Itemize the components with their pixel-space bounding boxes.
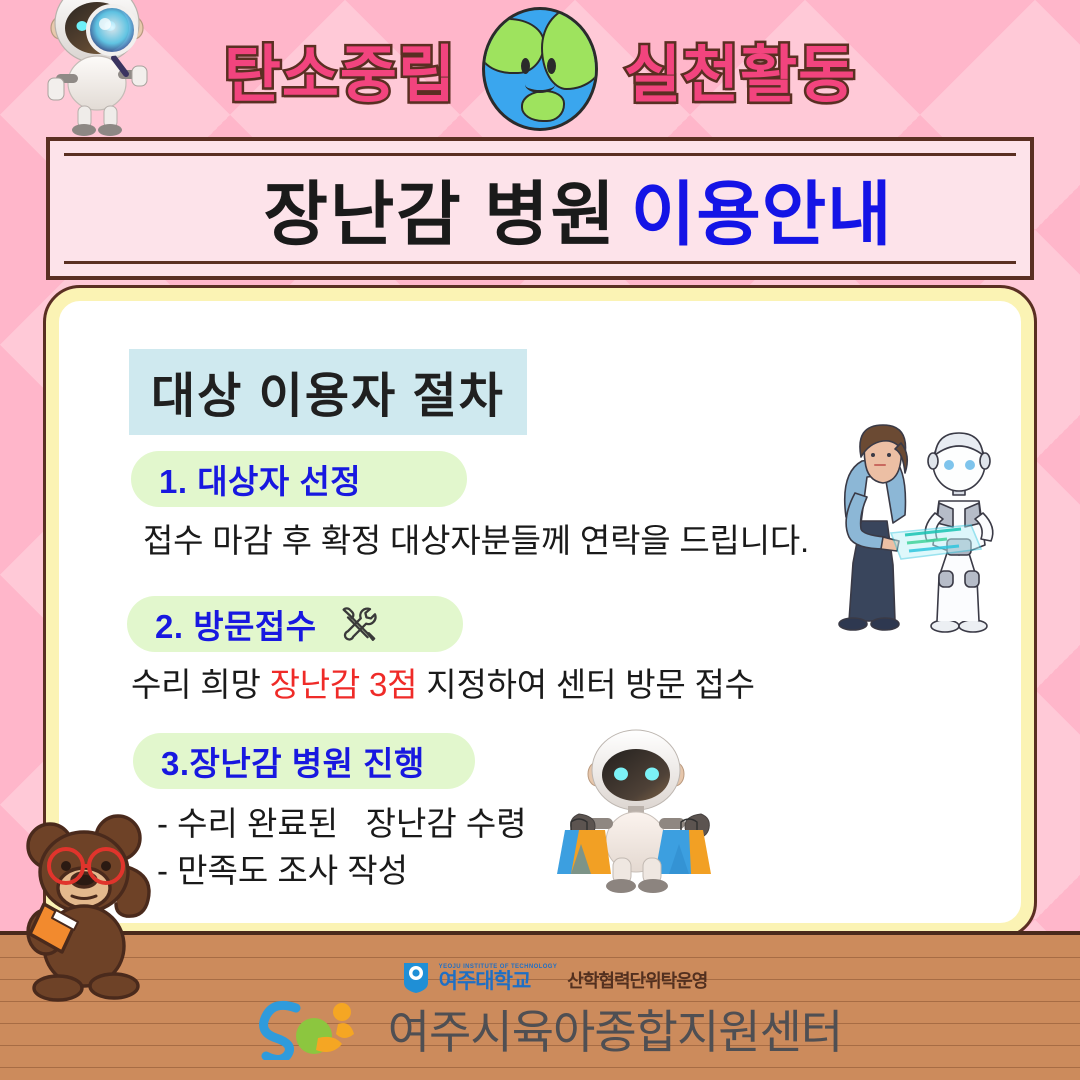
step-1-description: 접수 마감 후 확정 대상자분들께 연락을 드립니다.: [143, 514, 809, 562]
step-3-bullet-1: - 수리 완료된 장난감 수령: [157, 801, 527, 848]
floor-plank-line: [0, 1067, 1080, 1068]
step-2-desc-highlight: 장난감 3점: [270, 666, 418, 703]
step-3-label: 3.장난감 병원 진행: [161, 737, 425, 785]
page-title: 장난감 병원이용안내: [50, 158, 1030, 259]
step-2-description: 수리 희망 장난감 3점 지정하여 센터 방문 접수: [131, 658, 755, 706]
university-logo-row: YEOJU INSTITUTE OF TECHNOLOGY 여주대학교 산학협력…: [403, 962, 708, 994]
step-2-desc-after: 지정하여 센터 방문 접수: [417, 666, 754, 703]
page-title-accent: 이용안내: [631, 175, 893, 253]
top-banner: 탄소중립 실천활동: [0, 8, 1080, 130]
globe-landmass: [521, 90, 565, 122]
university-korean-name: 여주대학교: [439, 971, 558, 992]
woman-and-robot-illustration: [813, 421, 1003, 636]
center-logo-row: 여주시육아종합지원센터: [258, 996, 843, 1062]
title-bar: 장난감 병원이용안내: [46, 137, 1034, 280]
magnifier-robot-icon: [40, 0, 158, 138]
step-2-label: 2. 방문접수: [155, 600, 317, 648]
banner-left-text: 탄소중립: [224, 24, 456, 114]
step-1-pill: 1. 대상자 선정: [131, 451, 467, 507]
content-panel: 대상 이용자 절차 1. 대상자 선정 접수 마감 후 확정 대상자분들께 연락…: [46, 288, 1034, 936]
globe-landmass: [482, 18, 545, 74]
section-heading: 대상 이용자 절차: [129, 349, 527, 435]
sc-center-logo-icon: [258, 998, 376, 1060]
globe-eye-left: [521, 58, 530, 74]
step-1-label: 1. 대상자 선정: [159, 455, 361, 503]
tools-icon: [335, 601, 381, 647]
poster-root: 탄소중립 실천활동 장난감 병원이용안내: [0, 0, 1080, 1080]
university-subtitle: 산학협력단위탁운영: [567, 967, 707, 993]
globe-smile: [525, 76, 555, 93]
university-shield-icon: [403, 962, 429, 994]
footer-logos: YEOJU INSTITUTE OF TECHNOLOGY 여주대학교 산학협력…: [0, 962, 1080, 1062]
banner-right-text: 실천활동: [624, 24, 856, 114]
step-3-bullets: - 수리 완료된 장난감 수령 - 만족도 조사 작성: [157, 801, 527, 895]
university-name-block: YEOJU INSTITUTE OF TECHNOLOGY 여주대학교: [439, 964, 558, 992]
globe-eye-right: [547, 58, 556, 74]
step-3-bullet-2: - 만족도 조사 작성: [157, 848, 527, 895]
center-name: 여주시육아종합지원센터: [388, 996, 843, 1062]
page-title-main: 장난감 병원: [263, 175, 616, 253]
step-2-pill: 2. 방문접수: [127, 596, 463, 652]
step-3-pill: 3.장난감 병원 진행: [133, 733, 475, 789]
shopping-robot-illustration: [557, 726, 723, 896]
step-2-desc-before: 수리 희망: [131, 666, 270, 703]
earth-globe-icon: [482, 7, 598, 131]
